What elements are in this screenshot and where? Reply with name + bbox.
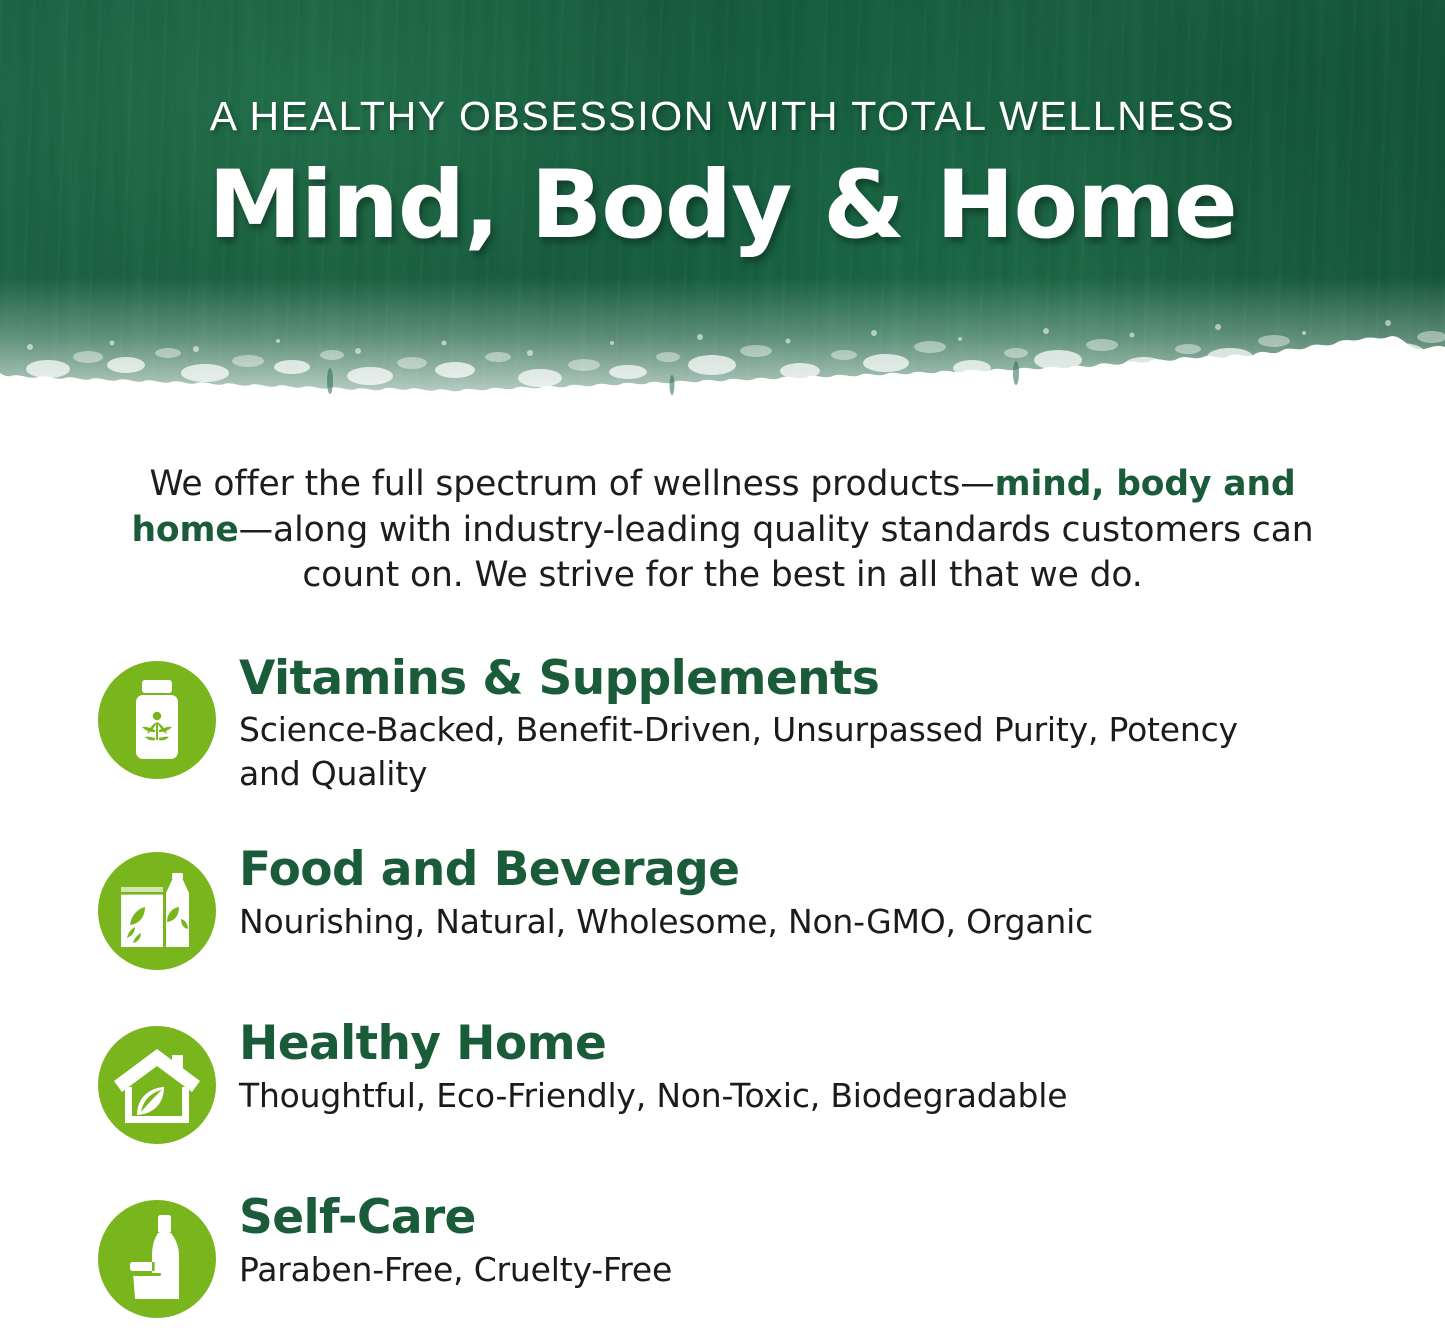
page-title: Mind, Body & Home [0, 153, 1445, 258]
feature-description: Nourishing, Natural, Wholesome, Non-GMO,… [239, 900, 1093, 944]
main-content: We offer the full spectrum of wellness p… [0, 400, 1445, 1318]
feature-title: Vitamins & Supplements [239, 653, 1309, 705]
feature-item-vitamins-supplements: Vitamins & Supplements Science-Backed, B… [98, 651, 1445, 796]
feature-title: Healthy Home [239, 1018, 1067, 1070]
feature-title: Self-Care [239, 1192, 672, 1244]
supplement-bottle-icon [98, 661, 216, 779]
feature-text-block: Self-Care Paraben-Free, Cruelty-Free [216, 1190, 672, 1292]
feature-item-healthy-home: Healthy Home Thoughtful, Eco-Friendly, N… [98, 1016, 1445, 1144]
feature-description: Thoughtful, Eco-Friendly, Non-Toxic, Bio… [239, 1074, 1067, 1118]
intro-paragraph: We offer the full spectrum of wellness p… [98, 462, 1348, 599]
food-pouch-bottle-icon [98, 852, 216, 970]
hero-content: A HEALTHY OBSESSION WITH TOTAL WELLNESS … [0, 0, 1445, 258]
lotion-bottle-jar-icon [98, 1200, 216, 1318]
wellness-infographic: A HEALTHY OBSESSION WITH TOTAL WELLNESS … [0, 0, 1445, 1338]
feature-list: Vitamins & Supplements Science-Backed, B… [0, 651, 1445, 1318]
feature-text-block: Vitamins & Supplements Science-Backed, B… [216, 651, 1309, 796]
feature-description: Paraben-Free, Cruelty-Free [239, 1248, 672, 1292]
feature-text-block: Food and Beverage Nourishing, Natural, W… [216, 842, 1093, 944]
feature-description: Science-Backed, Benefit-Driven, Unsurpas… [239, 708, 1309, 796]
feature-text-block: Healthy Home Thoughtful, Eco-Friendly, N… [216, 1016, 1067, 1118]
intro-part2: —along with industry-leading quality sta… [239, 510, 1314, 596]
house-leaf-icon [98, 1026, 216, 1144]
hero-eyebrow: A HEALTHY OBSESSION WITH TOTAL WELLNESS [0, 96, 1445, 137]
feature-item-self-care: Self-Care Paraben-Free, Cruelty-Free [98, 1190, 1445, 1318]
feature-title: Food and Beverage [239, 844, 1093, 896]
feature-item-food-beverage: Food and Beverage Nourishing, Natural, W… [98, 842, 1445, 970]
intro-part1: We offer the full spectrum of wellness p… [149, 464, 994, 504]
hero-banner: A HEALTHY OBSESSION WITH TOTAL WELLNESS … [0, 0, 1445, 400]
